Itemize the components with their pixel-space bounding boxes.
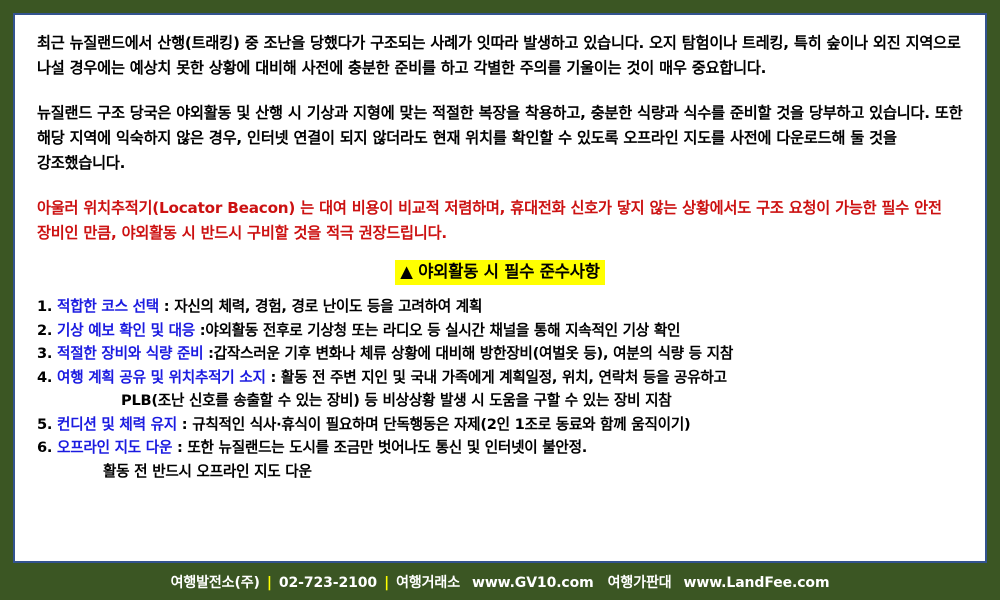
rule-number: 3.	[37, 345, 52, 362]
footer-phone-number: 02-723-2100	[279, 575, 377, 591]
paragraph-spacer	[37, 81, 963, 101]
rule-title: 적절한 장비와 식량 준비	[57, 345, 203, 362]
footer-band: 여행발전소(주) | 02-723-2100 | 여행거래소 www.GV10.…	[0, 563, 1000, 600]
beacon-recommendation-paragraph: 아울러 위치추적기(Locator Beacon) 는 대여 비용이 비교적 저…	[37, 196, 963, 246]
rule-number: 4.	[37, 369, 52, 386]
rule-separator: :	[266, 369, 281, 386]
rule-continuation: 활동 전 반드시 오프라인 지도 다운	[37, 460, 963, 484]
rule-number: 2.	[37, 322, 52, 339]
rules-list: 1. 적합한 코스 선택 : 자신의 체력, 경험, 경로 난이도 등을 고려하…	[37, 295, 963, 483]
rules-heading-row: ▲ 야외활동 시 필수 준수사항	[37, 260, 963, 285]
footer-contact-line: 여행발전소(주) | 02-723-2100 | 여행거래소 www.GV10.…	[171, 572, 830, 592]
intro-paragraph-1: 최근 뉴질랜드에서 산행(트래킹) 중 조난을 당했다가 구조되는 사례가 잇따…	[37, 31, 963, 81]
content-body: 최근 뉴질랜드에서 산행(트래킹) 중 조난을 당했다가 구조되는 사례가 잇따…	[15, 15, 985, 483]
rule-number: 6.	[37, 439, 52, 456]
footer-link-landfee[interactable]: www.LandFee.com	[672, 575, 830, 591]
list-item: 2. 기상 예보 확인 및 대응 :야외활동 전후로 기상청 또는 라디오 등 …	[37, 319, 963, 343]
list-item: 1. 적합한 코스 선택 : 자신의 체력, 경험, 경로 난이도 등을 고려하…	[37, 295, 963, 319]
rule-title: 적합한 코스 선택	[57, 298, 159, 315]
footer-separator: |	[377, 575, 396, 591]
rule-body: 또한 뉴질랜드는 도시를 조금만 벗어나도 통신 및 인터넷이 불안정.	[187, 439, 587, 456]
footer-brand-landfee: 여행가판대	[594, 572, 672, 592]
footer-link-gv10[interactable]: www.GV10.com	[460, 575, 594, 591]
rule-separator: :	[159, 298, 174, 315]
heading-spacer	[37, 246, 963, 260]
rule-title: 여행 계획 공유 및 위치추적기 소지	[57, 369, 266, 386]
content-card: 최근 뉴질랜드에서 산행(트래킹) 중 조난을 당했다가 구조되는 사례가 잇따…	[13, 13, 987, 563]
footer-company-name: 여행발전소(주)	[171, 572, 260, 592]
paragraph-spacer	[37, 176, 963, 196]
rule-number: 1.	[37, 298, 52, 315]
footer-brand-gv10: 여행거래소	[396, 572, 460, 592]
rule-title: 기상 예보 확인 및 대응	[57, 322, 195, 339]
footer-separator: |	[260, 575, 279, 591]
rule-separator: :	[203, 345, 213, 362]
rule-body: 규칙적인 식사·휴식이 필요하며 단독행동은 자제(2인 1조로 동료와 함께 …	[192, 416, 690, 433]
rules-heading: ▲ 야외활동 시 필수 준수사항	[395, 260, 604, 285]
rule-separator: :	[172, 439, 187, 456]
rule-body: 갑작스러운 기후 변화나 체류 상황에 대비해 방한장비(여벌옷 등), 여분의…	[214, 345, 733, 362]
notice-page: 최근 뉴질랜드에서 산행(트래킹) 중 조난을 당했다가 구조되는 사례가 잇따…	[0, 0, 1000, 600]
list-item: 4. 여행 계획 공유 및 위치추적기 소지 : 활동 전 주변 지인 및 국내…	[37, 366, 963, 413]
rule-number: 5.	[37, 416, 52, 433]
rule-body: 자신의 체력, 경험, 경로 난이도 등을 고려하여 계획	[174, 298, 482, 315]
rule-title: 오프라인 지도 다운	[57, 439, 172, 456]
rule-body: 활동 전 주변 지인 및 국내 가족에게 계획일정, 위치, 연락처 등을 공유…	[281, 369, 727, 386]
list-item: 6. 오프라인 지도 다운 : 또한 뉴질랜드는 도시를 조금만 벗어나도 통신…	[37, 436, 963, 483]
rule-title: 컨디션 및 체력 유지	[57, 416, 177, 433]
rule-separator: :	[195, 322, 205, 339]
rule-separator: :	[177, 416, 192, 433]
list-item: 5. 컨디션 및 체력 유지 : 규칙적인 식사·휴식이 필요하며 단독행동은 …	[37, 413, 963, 437]
rule-continuation: PLB(조난 신호를 송출할 수 있는 장비) 등 비상상황 발생 시 도움을 …	[37, 389, 963, 413]
list-item: 3. 적절한 장비와 식량 준비 :갑작스러운 기후 변화나 체류 상황에 대비…	[37, 342, 963, 366]
list-spacer	[37, 285, 963, 295]
intro-paragraph-2: 뉴질랜드 구조 당국은 야외활동 및 산행 시 기상과 지형에 맞는 적절한 복…	[37, 101, 963, 176]
rule-body: 야외활동 전후로 기상청 또는 라디오 등 실시간 채널을 통해 지속적인 기상…	[205, 322, 680, 339]
